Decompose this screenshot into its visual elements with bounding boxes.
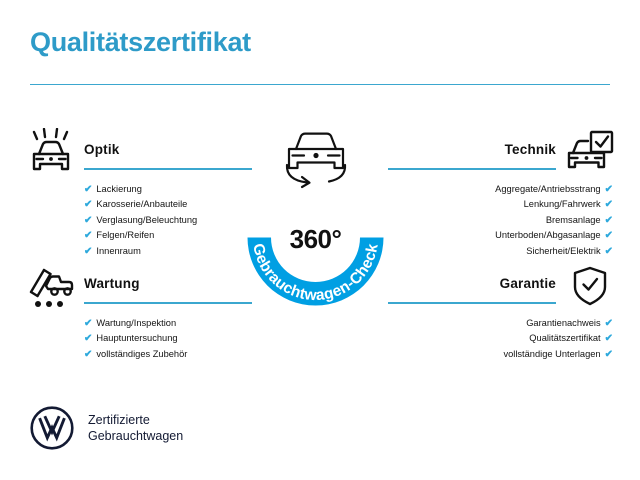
check-icon: ✔ <box>84 244 92 259</box>
list-item-label: Sicherheit/Elektrik <box>526 246 600 256</box>
list-item: ✔Wartung/Inspektion <box>84 316 256 331</box>
list-item: ✔Innenraum <box>84 244 256 259</box>
page-title: Qualitätszertifikat <box>30 28 610 58</box>
section-wartung-list: ✔Wartung/Inspektion ✔Hauptuntersuchung ✔… <box>26 316 256 362</box>
section-garantie-list: Garantienachweis✔ Qualitätszertifikat✔ v… <box>384 316 614 362</box>
shield-check-icon <box>564 262 614 308</box>
footer-line-2: Gebrauchtwagen <box>88 428 183 445</box>
check-icon: ✔ <box>605 213 613 228</box>
list-item: Garantienachweis✔ <box>384 316 613 331</box>
list-item-label: Felgen/Reifen <box>96 230 154 240</box>
header: Qualitätszertifikat <box>30 28 610 85</box>
check-icon: ✔ <box>605 244 613 259</box>
check-icon: ✔ <box>605 197 613 212</box>
section-wartung-divider <box>84 302 252 304</box>
footer-brand: Zertifizierte Gebrauchtwagen <box>30 406 183 450</box>
check-icon: ✔ <box>84 197 92 212</box>
section-technik-title: Technik <box>505 142 556 157</box>
list-item-label: Lenkung/Fahrwerk <box>524 199 601 209</box>
list-item-label: Garantienachweis <box>526 318 600 328</box>
list-item: ✔Felgen/Reifen <box>84 228 256 243</box>
check-icon: ✔ <box>84 182 92 197</box>
list-item-label: Lackierung <box>96 184 141 194</box>
section-wartung-title: Wartung <box>84 276 140 291</box>
section-optik-divider <box>84 168 252 170</box>
check-icon: ✔ <box>84 347 92 362</box>
car-shine-icon <box>26 128 76 174</box>
car-rotate-icon <box>271 127 361 189</box>
list-item: vollständige Unterlagen✔ <box>384 347 613 362</box>
list-item: ✔vollständiges Zubehör <box>84 347 256 362</box>
section-garantie-divider <box>388 302 556 304</box>
check-icon: ✔ <box>605 331 613 346</box>
check-icon: ✔ <box>84 213 92 228</box>
title-divider <box>30 84 610 86</box>
section-technik-header: Technik <box>384 128 614 174</box>
list-item: ✔Verglasung/Beleuchtung <box>84 213 256 228</box>
list-item-label: Innenraum <box>96 246 140 256</box>
list-item: ✔Karosserie/Anbauteile <box>84 197 256 212</box>
car-lift-icon <box>26 262 76 308</box>
list-item-label: vollständiges Zubehör <box>96 349 187 359</box>
list-item-label: vollständige Unterlagen <box>503 349 600 359</box>
check-icon: ✔ <box>605 182 613 197</box>
list-item-label: Unterboden/Abgasanlage <box>495 230 600 240</box>
footer-text: Zertifizierte Gebrauchtwagen <box>88 412 183 445</box>
badge-360-gebrauchtwagen-check: Gebrauchtwagen-Check <box>233 127 408 319</box>
vw-logo-icon <box>30 406 74 450</box>
list-item-label: Wartung/Inspektion <box>96 318 176 328</box>
list-item: Unterboden/Abgasanlage✔ <box>384 228 613 243</box>
list-item-label: Verglasung/Beleuchtung <box>96 215 197 225</box>
badge-center-label: 360° <box>233 224 398 255</box>
section-garantie-header: Garantie <box>384 262 614 308</box>
check-icon: ✔ <box>605 228 613 243</box>
section-technik-list: Aggregate/Antriebsstrang✔ Lenkung/Fahrwe… <box>384 182 614 259</box>
section-wartung: Wartung ✔Wartung/Inspektion ✔Hauptunters… <box>26 262 256 362</box>
list-item: Qualitätszertifikat✔ <box>384 331 613 346</box>
list-item: Bremsanlage✔ <box>384 213 613 228</box>
list-item-label: Qualitätszertifikat <box>529 333 600 343</box>
footer-line-1: Zertifizierte <box>88 412 183 429</box>
check-icon: ✔ <box>84 316 92 331</box>
check-icon: ✔ <box>84 331 92 346</box>
certificate-page: Qualitätszertifikat <box>0 0 640 480</box>
list-item-label: Aggregate/Antriebsstrang <box>495 184 600 194</box>
section-technik: Technik Aggregate/Antriebsstrang✔ Lenkun… <box>384 128 614 259</box>
list-item-label: Hauptuntersuchung <box>96 333 177 343</box>
list-item-label: Bremsanlage <box>546 215 601 225</box>
section-optik-header: Optik <box>26 128 256 174</box>
section-garantie: Garantie Garantienachweis✔ Qualitätszert… <box>384 262 614 362</box>
list-item: Sicherheit/Elektrik✔ <box>384 244 613 259</box>
list-item: ✔Lackierung <box>84 182 256 197</box>
section-optik-title: Optik <box>84 142 120 157</box>
section-garantie-title: Garantie <box>500 276 556 291</box>
list-item: ✔Hauptuntersuchung <box>84 331 256 346</box>
car-checkbox-icon <box>564 128 614 174</box>
check-icon: ✔ <box>605 316 613 331</box>
section-technik-divider <box>388 168 556 170</box>
section-optik: Optik ✔Lackierung ✔Karosserie/Anbauteile… <box>26 128 256 259</box>
list-item: Lenkung/Fahrwerk✔ <box>384 197 613 212</box>
list-item-label: Karosserie/Anbauteile <box>96 199 187 209</box>
list-item: Aggregate/Antriebsstrang✔ <box>384 182 613 197</box>
check-icon: ✔ <box>84 228 92 243</box>
check-icon: ✔ <box>605 347 613 362</box>
section-optik-list: ✔Lackierung ✔Karosserie/Anbauteile ✔Verg… <box>26 182 256 259</box>
section-wartung-header: Wartung <box>26 262 256 308</box>
